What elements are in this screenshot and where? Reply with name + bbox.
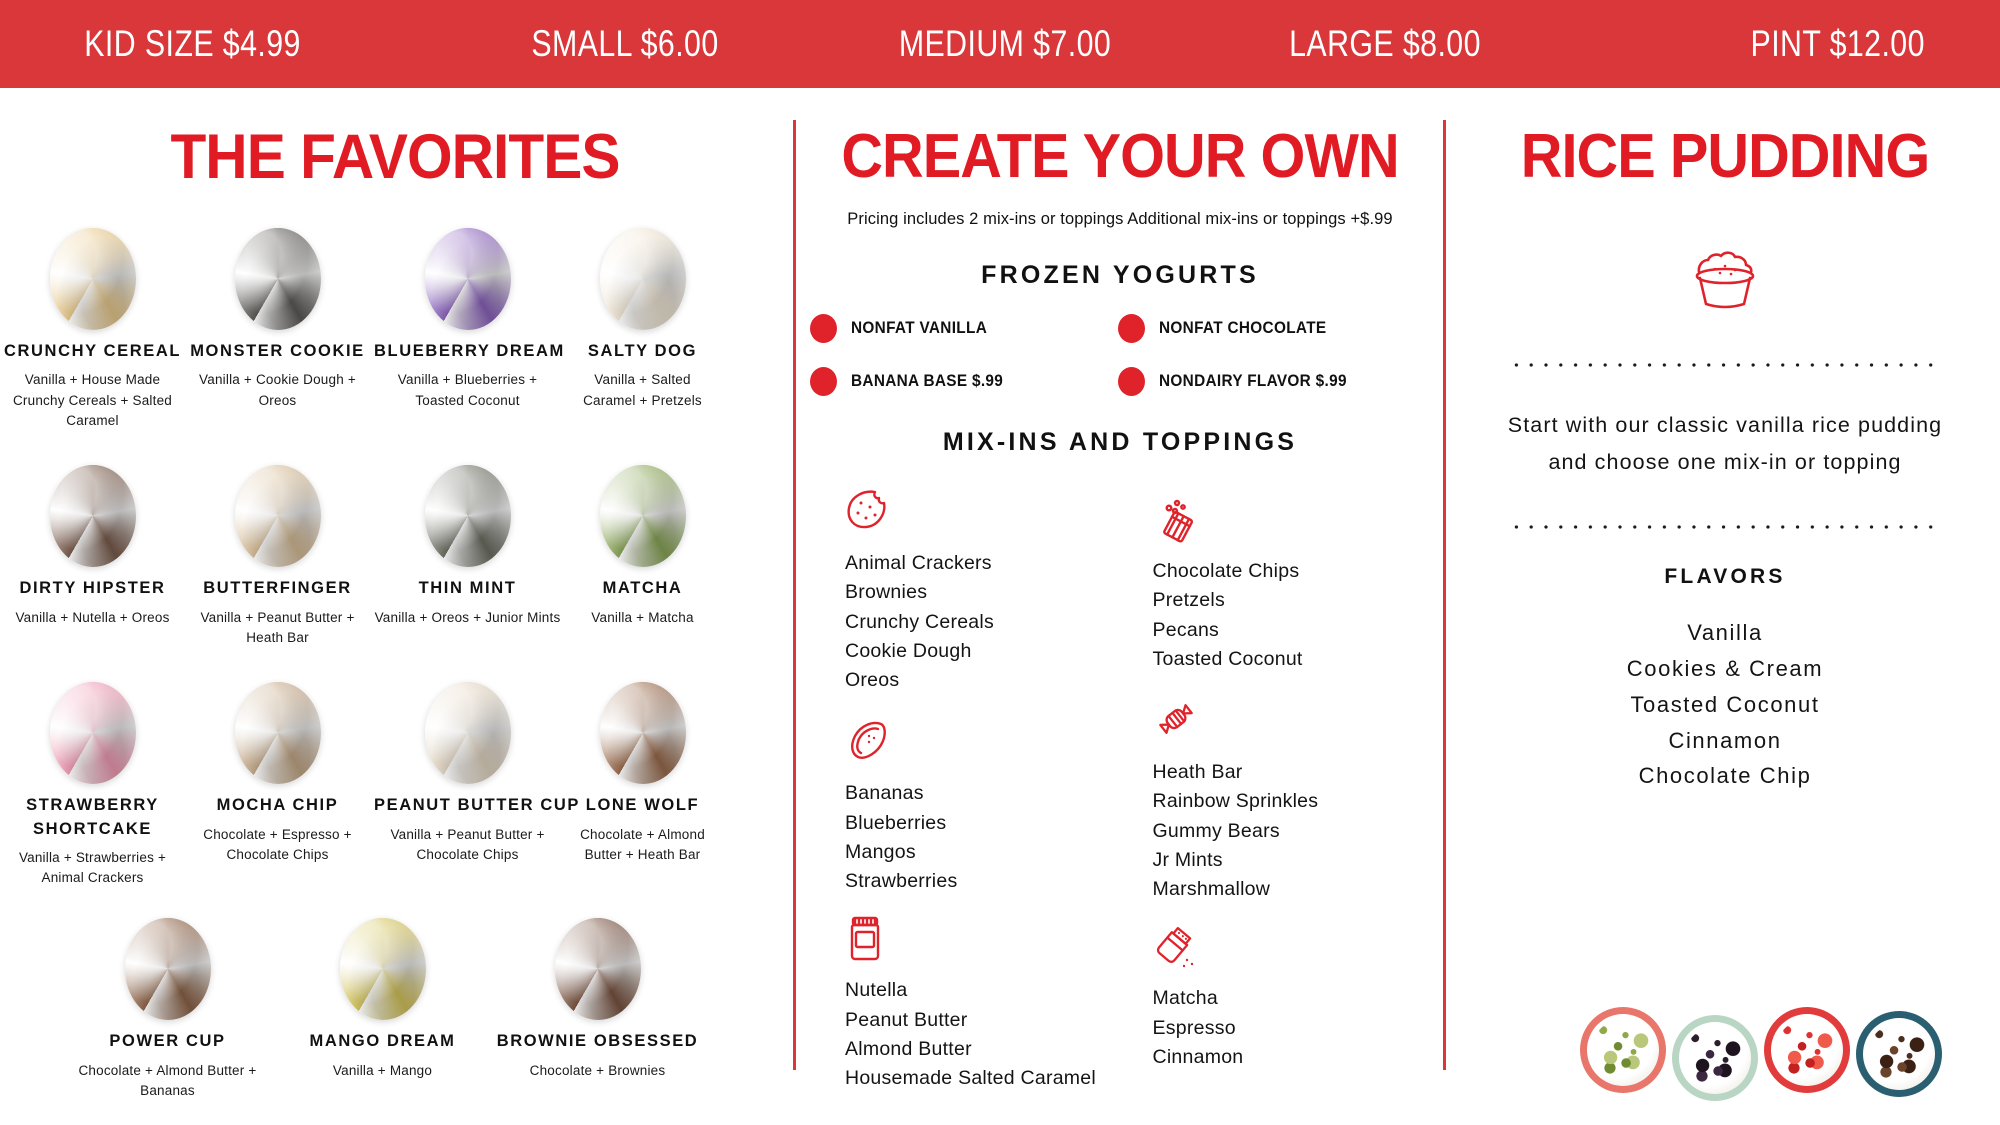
flavor-description: Vanilla + Cookie Dough + Oreos <box>189 370 366 411</box>
swirl-highlight <box>600 228 686 330</box>
mixin-item[interactable]: Mangos <box>845 838 1133 867</box>
mixin-item[interactable]: Cinnamon <box>1153 1043 1441 1072</box>
favorites-row: POWER CUPChocolate + Almond Butter + Ban… <box>0 918 790 1101</box>
flavor-name: THIN MINT <box>374 577 561 600</box>
flavor-swirl-image <box>600 682 686 784</box>
favorite-item: STRAWBERRYSHORTCAKEVanilla + Strawberrie… <box>0 682 185 888</box>
column-divider-left <box>793 120 796 1070</box>
red-dot-icon <box>1118 367 1145 396</box>
favorite-item: MANGO DREAMVanilla + Mango <box>275 918 490 1081</box>
frozen-yogurt-option[interactable]: NONFAT CHOCOLATE <box>1118 314 1426 343</box>
flavor-swirl-image <box>125 918 211 1020</box>
column-divider-right <box>1443 120 1446 1070</box>
flavor-swirl-image <box>50 682 136 784</box>
blackberry-bowl <box>1672 1015 1758 1101</box>
spice-shaker-icon <box>1153 922 1441 976</box>
mixin-group: Animal CrackersBrowniesCrunchy CerealsCo… <box>845 487 1133 695</box>
rice-pudding-flavors-list: VanillaCookies & CreamToasted CoconutCin… <box>1450 615 2000 794</box>
red-dot-icon <box>1118 314 1145 343</box>
pricing-note: Pricing includes 2 mix-ins or toppings A… <box>800 210 1440 229</box>
watermelon-slice-icon <box>845 717 1133 771</box>
rice-pudding-title: RICE PUDDING <box>1469 121 1981 192</box>
flavor-description: Vanilla + Peanut Butter + Heath Bar <box>189 608 366 649</box>
mixin-item[interactable]: Housemade Salted Caramel <box>845 1064 1133 1093</box>
swirl-highlight <box>235 465 321 567</box>
flavor-name: BUTTERFINGER <box>189 577 366 600</box>
mixin-item[interactable]: Pretzels <box>1153 586 1441 615</box>
price-small: SMALL $6.00 <box>469 23 781 65</box>
flavor-description: Vanilla + Peanut Butter + Chocolate Chip… <box>374 825 561 866</box>
swirl-highlight <box>50 682 136 784</box>
swirl-highlight <box>235 682 321 784</box>
flavor-name: POWER CUP <box>64 1030 271 1053</box>
price-kid-size: KID SIZE $4.99 <box>39 23 396 65</box>
flavor-swirl-image <box>50 228 136 330</box>
price-large: LARGE $8.00 <box>1229 23 1541 65</box>
flavor-description: Vanilla + Oreos + Junior Mints <box>374 608 561 628</box>
favorite-item: MATCHAVanilla + Matcha <box>565 465 720 628</box>
mixin-item[interactable]: Toasted Coconut <box>1153 645 1441 674</box>
mixins-grid: Animal CrackersBrowniesCrunchy CerealsCo… <box>800 487 1440 1097</box>
flavor-name: MOCHA CHIP <box>189 794 366 817</box>
bowl-topping <box>1868 1023 1930 1085</box>
mixin-list: Animal CrackersBrowniesCrunchy CerealsCo… <box>845 549 1133 695</box>
mixin-group: Heath BarRainbow SprinklesGummy BearsJr … <box>1153 696 1441 904</box>
dotted-divider-bottom <box>1509 525 1941 529</box>
swirl-highlight <box>425 682 511 784</box>
red-dot-icon <box>810 367 837 396</box>
rice-pudding-column: RICE PUDDING Start with our classic vani… <box>1450 88 2000 1125</box>
favorites-row: DIRTY HIPSTERVanilla + Nutella + OreosBU… <box>0 465 790 648</box>
swirl-highlight <box>555 918 641 1020</box>
sprinkle-shaker-icon <box>1153 495 1441 549</box>
flavor-swirl-image <box>600 465 686 567</box>
rice-pudding-flavors-heading: FLAVORS <box>1450 565 2000 589</box>
pistachio-bowl <box>1580 1007 1666 1093</box>
frozen-yogurt-label: NONFAT CHOCOLATE <box>1159 319 1326 338</box>
flavor-swirl-image <box>425 682 511 784</box>
favorite-item: BLUEBERRY DREAMVanilla + Blueberries + T… <box>370 228 565 411</box>
mixin-list: MatchaEspressoCinnamon <box>1153 984 1441 1072</box>
frozen-yogurt-option[interactable]: BANANA BASE $.99 <box>810 367 1118 396</box>
favorite-item: DIRTY HIPSTERVanilla + Nutella + Oreos <box>0 465 185 628</box>
mixin-item[interactable]: Almond Butter <box>845 1035 1133 1064</box>
mixin-item[interactable]: Chocolate Chips <box>1153 557 1441 586</box>
mixin-item[interactable]: Marshmallow <box>1153 875 1441 904</box>
favorite-item: SALTY DOGVanilla + Salted Caramel + Pret… <box>565 228 720 411</box>
swirl-highlight <box>600 465 686 567</box>
flavor-description: Chocolate + Brownies <box>494 1061 701 1081</box>
flavor-description: Vanilla + Matcha <box>569 608 716 628</box>
swirl-highlight <box>425 465 511 567</box>
mixin-group: Chocolate ChipsPretzelsPecansToasted Coc… <box>1153 495 1441 674</box>
flavor-description: Chocolate + Espresso + Chocolate Chips <box>189 825 366 866</box>
favorite-item: LONE WOLFChocolate + Almond Butter + Hea… <box>565 682 720 865</box>
flavor-description: Chocolate + Almond Butter + Heath Bar <box>569 825 716 866</box>
flavor-swirl-image <box>50 465 136 567</box>
favorite-item: THIN MINTVanilla + Oreos + Junior Mints <box>370 465 565 628</box>
favorites-row: CRUNCHY CEREALVanilla + House Made Crunc… <box>0 228 790 431</box>
frozen-yogurt-label: BANANA BASE $.99 <box>851 372 1003 391</box>
favorite-item: MONSTER COOKIEVanilla + Cookie Dough + O… <box>185 228 370 411</box>
flavor-name: STRAWBERRYSHORTCAKE <box>4 794 181 841</box>
frozen-yogurt-label: NONFAT VANILLA <box>851 319 987 338</box>
mixin-item[interactable]: Brownies <box>845 578 1133 607</box>
favorite-item: BROWNIE OBSESSEDChocolate + Brownies <box>490 918 705 1081</box>
mixin-item[interactable]: Rainbow Sprinkles <box>1153 787 1441 816</box>
rice-pudding-flavor[interactable]: Toasted Coconut <box>1450 687 2000 723</box>
bowl-topping <box>1684 1027 1746 1089</box>
price-pint: PINT $12.00 <box>1613 23 1962 65</box>
flavor-swirl-image <box>340 918 426 1020</box>
frozen-yogurt-label: NONDAIRY FLAVOR $.99 <box>1159 372 1347 391</box>
favorites-row: STRAWBERRYSHORTCAKEVanilla + Strawberrie… <box>0 682 790 888</box>
mixins-column-right: Chocolate ChipsPretzelsPecansToasted Coc… <box>1153 487 1441 1097</box>
raisin-cinnamon-bowl <box>1856 1011 1942 1097</box>
flavor-description: Vanilla + Blueberries + Toasted Coconut <box>374 370 561 411</box>
pudding-bowl-icon <box>1450 240 2000 319</box>
flavor-name: BLUEBERRY DREAM <box>374 340 561 363</box>
frozen-yogurt-option[interactable]: NONDAIRY FLAVOR $.99 <box>1118 367 1426 396</box>
frozen-yogurts-heading: FROZEN YOGURTS <box>800 261 1440 290</box>
jar-icon <box>845 914 1133 968</box>
mixin-item[interactable]: Blueberries <box>845 809 1133 838</box>
flavor-swirl-image <box>235 228 321 330</box>
flavor-description: Vanilla + Salted Caramel + Pretzels <box>569 370 716 411</box>
mixin-item[interactable]: Heath Bar <box>1153 758 1441 787</box>
mixin-item[interactable]: Gummy Bears <box>1153 817 1441 846</box>
favorite-item: BUTTERFINGERVanilla + Peanut Butter + He… <box>185 465 370 648</box>
flavor-description: Vanilla + Nutella + Oreos <box>4 608 181 628</box>
rice-pudding-flavor[interactable]: Cookies & Cream <box>1450 651 2000 687</box>
swirl-highlight <box>425 228 511 330</box>
flavor-name: DIRTY HIPSTER <box>4 577 181 600</box>
mixin-item[interactable]: Crunchy Cereals <box>845 608 1133 637</box>
swirl-highlight <box>50 228 136 330</box>
favorite-item: MOCHA CHIPChocolate + Espresso + Chocola… <box>185 682 370 865</box>
wrapped-candy-icon <box>1153 696 1441 750</box>
favorite-item: POWER CUPChocolate + Almond Butter + Ban… <box>60 918 275 1101</box>
menu-board: KID SIZE $4.99 SMALL $6.00 MEDIUM $7.00 … <box>0 0 2000 1125</box>
mixins-column-left: Animal CrackersBrowniesCrunchy CerealsCo… <box>845 487 1133 1097</box>
mixins-heading: MIX-INS AND TOPPINGS <box>800 428 1440 457</box>
mixin-item[interactable]: Espresso <box>1153 1014 1441 1043</box>
frozen-yogurts-list: NONFAT VANILLANONFAT CHOCOLATEBANANA BAS… <box>800 314 1440 396</box>
mixin-group: BananasBlueberriesMangosStrawberries <box>845 717 1133 896</box>
flavor-swirl-image <box>235 682 321 784</box>
mixin-list: NutellaPeanut ButterAlmond ButterHousema… <box>845 976 1133 1093</box>
favorites-grid: CRUNCHY CEREALVanilla + House Made Crunc… <box>0 228 790 1101</box>
mixin-item[interactable]: Nutella <box>845 976 1133 1005</box>
pudding-bowls-photo-strip <box>1580 985 1980 1115</box>
flavor-name: MONSTER COOKIE <box>189 340 366 363</box>
favorite-item: PEANUT BUTTER CUPVanilla + Peanut Butter… <box>370 682 565 865</box>
flavor-swirl-image <box>235 465 321 567</box>
bowl-topping <box>1776 1019 1838 1081</box>
create-your-own-title: CREATE YOUR OWN <box>822 121 1417 192</box>
flavor-name: MANGO DREAM <box>279 1030 486 1053</box>
mixin-item[interactable]: Strawberries <box>845 867 1133 896</box>
flavor-name: MATCHA <box>569 577 716 600</box>
cookie-icon <box>845 487 1133 541</box>
frozen-yogurt-option[interactable]: NONFAT VANILLA <box>810 314 1118 343</box>
mixin-group: NutellaPeanut ButterAlmond ButterHousema… <box>845 914 1133 1093</box>
flavor-swirl-image <box>555 918 641 1020</box>
flavor-name: PEANUT BUTTER CUP <box>374 794 561 817</box>
create-your-own-column: CREATE YOUR OWN Pricing includes 2 mix-i… <box>800 88 1440 1125</box>
dotted-divider-top <box>1509 363 1941 367</box>
price-medium: MEDIUM $7.00 <box>849 23 1161 65</box>
flavor-name: SALTY DOG <box>569 340 716 363</box>
mixin-item[interactable]: Peanut Butter <box>845 1006 1133 1035</box>
mixin-item[interactable]: Jr Mints <box>1153 846 1441 875</box>
mixin-list: Chocolate ChipsPretzelsPecansToasted Coc… <box>1153 557 1441 674</box>
mixin-item[interactable]: Animal Crackers <box>845 549 1133 578</box>
flavor-name: CRUNCHY CEREAL <box>4 340 181 363</box>
flavor-description: Chocolate + Almond Butter + Bananas <box>64 1061 271 1102</box>
bowl-topping <box>1592 1019 1654 1081</box>
red-dot-icon <box>810 314 837 343</box>
rice-pudding-description: Start with our classic vanilla rice pudd… <box>1450 407 2000 481</box>
favorite-item: CRUNCHY CEREALVanilla + House Made Crunc… <box>0 228 185 431</box>
swirl-highlight <box>50 465 136 567</box>
flavor-description: Vanilla + Strawberries + Animal Crackers <box>4 848 181 889</box>
mixin-list: BananasBlueberriesMangosStrawberries <box>845 779 1133 896</box>
flavor-description: Vanilla + House Made Crunchy Cereals + S… <box>4 370 181 431</box>
swirl-highlight <box>600 682 686 784</box>
flavor-name: BROWNIE OBSESSED <box>494 1030 701 1053</box>
mixin-item[interactable]: Oreos <box>845 666 1133 695</box>
mixin-item[interactable]: Cookie Dough <box>845 637 1133 666</box>
flavor-swirl-image <box>425 228 511 330</box>
rice-pudding-flavor[interactable]: Chocolate Chip <box>1450 758 2000 794</box>
flavor-swirl-image <box>425 465 511 567</box>
swirl-highlight <box>340 918 426 1020</box>
mixin-group: MatchaEspressoCinnamon <box>1153 922 1441 1072</box>
swirl-highlight <box>235 228 321 330</box>
mixin-item[interactable]: Bananas <box>845 779 1133 808</box>
mixin-list: Heath BarRainbow SprinklesGummy BearsJr … <box>1153 758 1441 904</box>
rice-pudding-flavor[interactable]: Cinnamon <box>1450 723 2000 759</box>
mixin-item[interactable]: Pecans <box>1153 616 1441 645</box>
flavor-name: LONE WOLF <box>569 794 716 817</box>
strawberry-bowl <box>1764 1007 1850 1093</box>
favorites-title: THE FAVORITES <box>28 121 763 193</box>
flavor-swirl-image <box>600 228 686 330</box>
swirl-highlight <box>125 918 211 1020</box>
rice-pudding-flavor[interactable]: Vanilla <box>1450 615 2000 651</box>
favorites-column: THE FAVORITES CRUNCHY CEREALVanilla + Ho… <box>0 88 790 1125</box>
price-banner: KID SIZE $4.99 SMALL $6.00 MEDIUM $7.00 … <box>0 0 2000 88</box>
flavor-description: Vanilla + Mango <box>279 1061 486 1081</box>
mixin-item[interactable]: Matcha <box>1153 984 1441 1013</box>
